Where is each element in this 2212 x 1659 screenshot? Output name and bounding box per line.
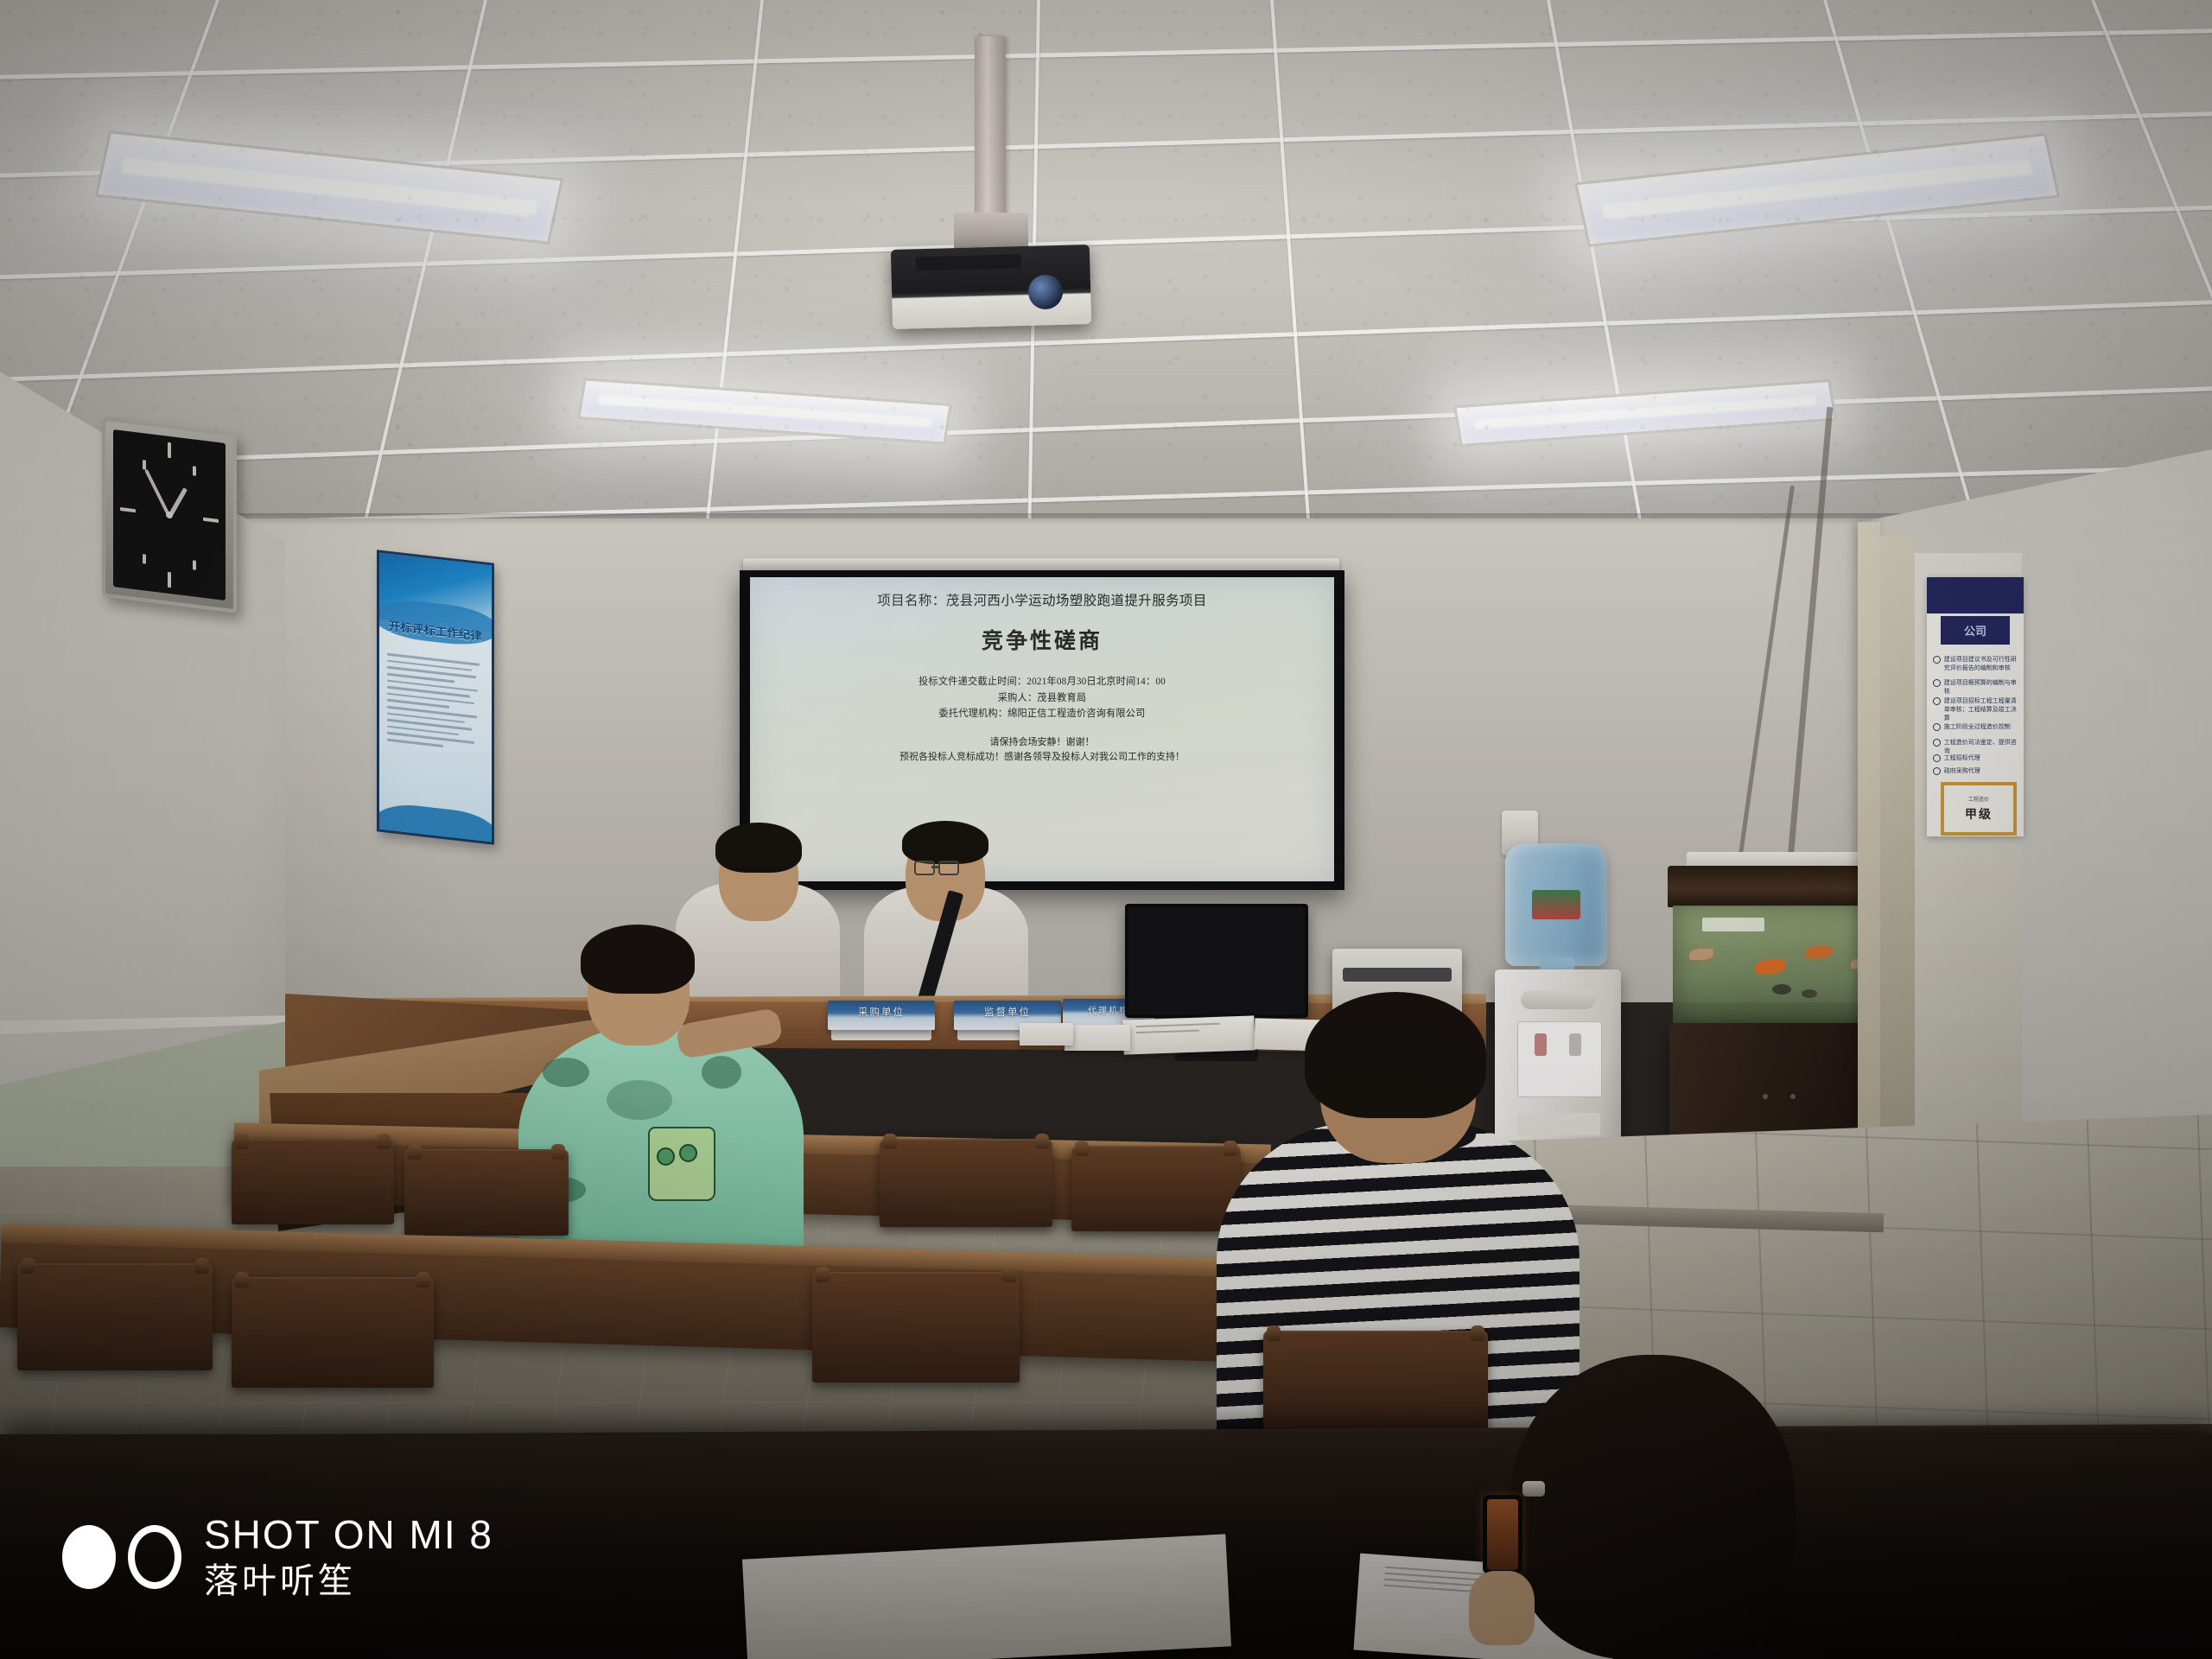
mobile-phone[interactable] [1483,1495,1522,1574]
name-plate-label: 采购单位 [858,1005,905,1019]
ceiling-light-back-left [577,378,952,444]
slide-project-name: 项目名称：茂县河西小学运动场塑胶跑道提升服务项目 [769,593,1315,610]
camera-dot-ring-icon [128,1525,181,1589]
water-tap-hot[interactable] [1535,1033,1547,1056]
goldfish-1 [1756,960,1785,974]
name-plate-label: 监督单位 [984,1005,1031,1019]
slide-meeting-type: 竞争性磋商 [769,624,1315,655]
projection-screen: 项目名称：茂县河西小学运动场塑胶跑道提升服务项目 竞争性磋商 投标文件递交截止时… [750,577,1334,881]
papers-on-table-1 [1122,1015,1255,1054]
certificate-title: 工程造价 [1968,795,1989,803]
wall-ceiling-cornice [207,513,1918,525]
poster-item-1: 建设项目概预算的编制与审核 [1933,678,2020,696]
watermark-camera-icons [62,1525,181,1589]
ceiling [0,0,2212,588]
ceiling-light-front-left [95,130,564,245]
goldfish-3 [1806,946,1832,958]
certificate-frame: 工程造价 甲级 [1941,782,2018,836]
poster-item-2: 建设项目招标工程工程量清单审核；工程结算及竣工决算 [1933,696,2020,722]
papers-on-table-3 [1065,1025,1130,1051]
name-plate-label: 代理机构 [1088,1003,1129,1016]
poster-bid-discipline: 开标评标工作纪律 [377,550,494,844]
poster-item-4: 工程造价司法鉴定、提供咨询 [1933,738,2020,755]
water-tap-cold[interactable] [1569,1033,1581,1056]
poster-item-5: 工程招标代理 [1933,753,2020,762]
chair-row2-mid[interactable] [232,1277,434,1455]
ceiling-light-front-right [1574,133,2060,247]
chair-row2-left[interactable] [17,1263,213,1436]
wall-clock [102,416,237,613]
slide-notices: 请保持会场安静！谢谢！ 预祝各投标人竞标成功！感谢各领导及投标人对我公司工作的支… [769,735,1315,766]
watermark: SHOT ON MI 8 落叶听笙 [62,1513,493,1600]
hair-clip [1522,1481,1545,1497]
camera-dot-solid-icon [62,1525,116,1589]
presentation-slide: 项目名称：茂县河西小学运动场塑胶跑道提升服务项目 竞争性磋商 投标文件递交截止时… [750,577,1334,881]
ceiling-light-back-right [1453,379,1837,447]
watermark-line-1: SHOT ON MI 8 [204,1513,493,1557]
certificate-grade: 甲级 [1965,805,1993,823]
slide-notice-thanks: 预祝各投标人竞标成功！感谢各领导及投标人对我公司工作的支持！ [769,750,1315,766]
watermark-line-2: 落叶听笙 [204,1562,493,1600]
poster-body-lines [387,653,484,756]
slide-purchaser: 采购人：茂县教育局 [769,690,1315,706]
poster-item-3: 施工阶段全过程造价控制 [1933,722,2020,731]
clock-minute-hand [144,469,171,518]
meeting-room-photo: 开标评标工作纪律 项目名称：茂县河西小学运动场塑胶跑道提升服务项目 竞争性磋商 … [0,0,2212,1659]
ceiling-grid [0,0,2212,588]
poster-item-0: 建设项目建议书及可行性研究评价报告的编制和审核 [1933,655,2020,672]
name-plate-purchasing-unit: 采购单位 [828,1001,935,1030]
poster-company-header: 公司 [1941,616,2011,645]
chair-row2-right[interactable] [812,1272,1020,1450]
slide-deadline: 投标文件递交截止时间：2021年08月30日北京时间14：00 [769,674,1315,690]
poster-item-6: 政府采购代理 [1933,766,2020,775]
slide-agency: 委托代理机构：绵阳正信工程造价咨询有限公司 [769,706,1315,721]
papers-stack-left [1020,1023,1073,1046]
poster-company-services: 公司 建设项目建议书及可行性研究评价报告的编制和审核 建设项目概预算的编制与审核… [1927,577,2024,836]
goldfish-2 [1689,949,1713,960]
monitor [1125,904,1308,1018]
slide-meta: 投标文件递交截止时间：2021年08月30日北京时间14：00 采购人：茂县教育… [769,674,1315,721]
glasses-icon [914,861,976,874]
slide-notice-quiet: 请保持会场安静！谢谢！ [769,735,1315,751]
